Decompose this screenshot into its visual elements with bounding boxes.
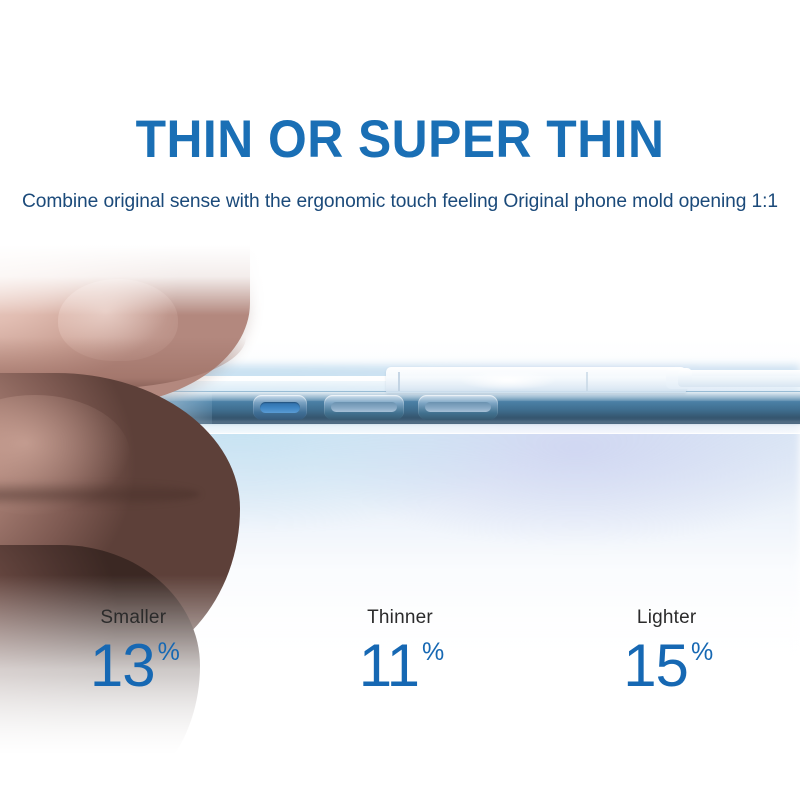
percent-symbol: % — [158, 638, 180, 666]
photo-top-vignette — [0, 245, 800, 315]
stat-smaller: Smaller 13% — [0, 608, 267, 738]
stat-value: 13% — [90, 636, 177, 696]
percent-symbol: % — [422, 638, 444, 666]
stat-label: Smaller — [0, 608, 267, 627]
stat-lighter: Lighter 15% — [533, 608, 800, 738]
header-text-block: THIN OR SUPER THIN Combine original sens… — [0, 0, 800, 245]
percent-symbol: % — [691, 638, 713, 666]
stat-number: 11 — [359, 632, 419, 699]
page-subtitle: Combine original sense with the ergonomi… — [6, 191, 794, 212]
stat-value: 15% — [623, 636, 710, 696]
stat-thinner: Thinner 11% — [267, 608, 534, 738]
stat-label: Lighter — [533, 608, 800, 627]
stat-number: 15 — [623, 632, 688, 699]
stat-number: 13 — [90, 632, 155, 699]
stat-value: 11% — [359, 636, 442, 696]
page-title: THIN OR SUPER THIN — [24, 113, 776, 166]
stats-row: Smaller 13% Thinner 11% Lighter 15% — [0, 608, 800, 738]
product-promo-poster: THIN OR SUPER THIN Combine original sens… — [0, 0, 800, 800]
stat-label: Thinner — [267, 608, 534, 627]
